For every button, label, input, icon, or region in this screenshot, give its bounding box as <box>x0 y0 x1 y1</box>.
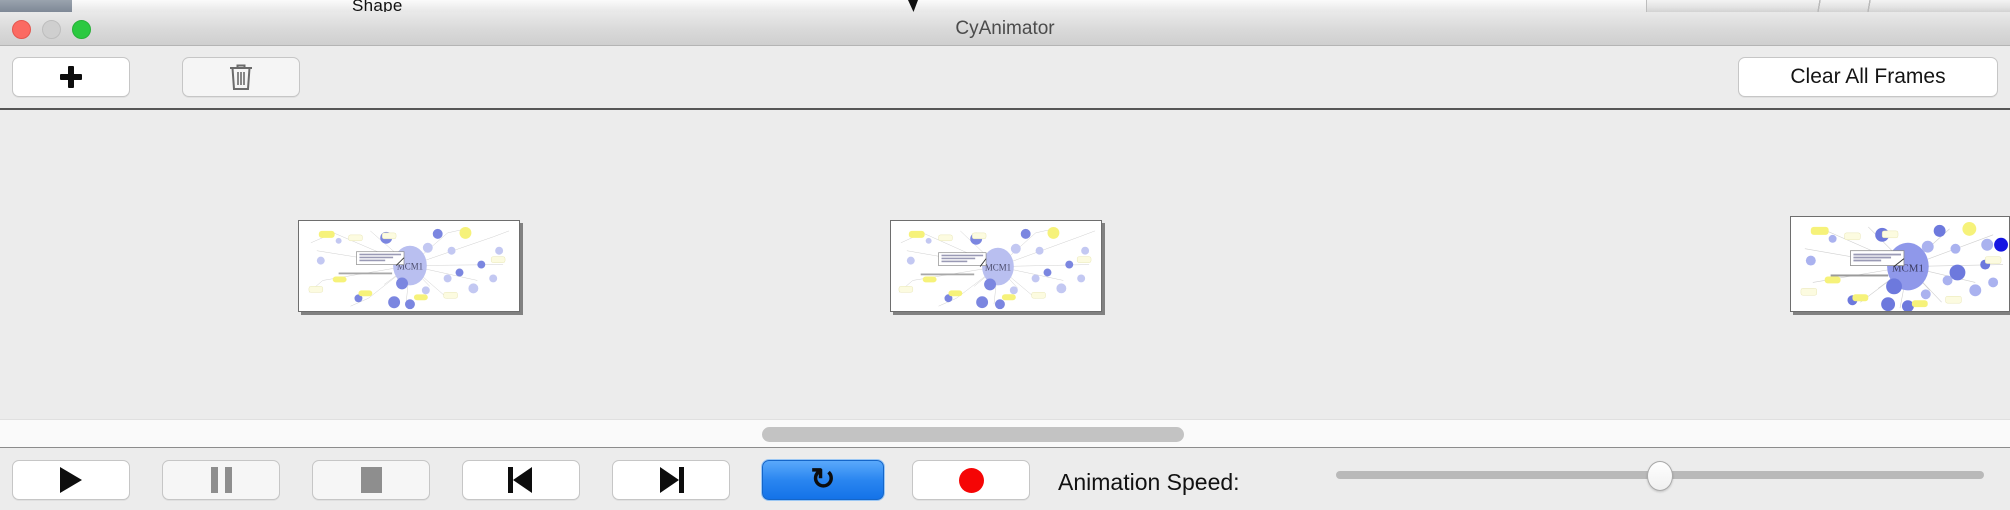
loop-icon: ↻ <box>810 465 835 495</box>
title-bar: CyAnimator <box>0 12 2010 46</box>
add-frame-button[interactable] <box>12 57 130 97</box>
loop-button[interactable]: ↻ <box>762 460 884 500</box>
stop-button[interactable] <box>312 460 430 500</box>
timeline-frame-2[interactable]: MCM1 <box>890 220 1102 312</box>
trash-icon <box>228 62 254 92</box>
network-thumbnail: MCM1 <box>299 221 519 312</box>
record-icon <box>959 468 984 493</box>
skip-to-end-icon <box>658 467 684 493</box>
window-title: CyAnimator <box>0 18 2010 40</box>
timeline-frame-1[interactable]: MCM1 <box>298 220 520 312</box>
playback-control-bar: ↻ Animation Speed: <box>0 449 2010 510</box>
clear-all-frames-label: Clear All Frames <box>1790 65 1945 89</box>
plus-icon <box>59 65 83 89</box>
timeline-frame-3[interactable]: MCM1 <box>1790 216 2010 312</box>
clear-all-frames-button[interactable]: Clear All Frames <box>1738 57 1998 97</box>
animation-speed-thumb[interactable] <box>1647 461 1673 491</box>
delete-frame-button[interactable] <box>182 57 300 97</box>
background-window-strip: Shape <box>0 0 2010 12</box>
skip-start-button[interactable] <box>462 460 580 500</box>
play-button[interactable] <box>12 460 130 500</box>
timeline-scrollbar[interactable] <box>0 419 2010 448</box>
cyanimator-window: Shape CyAnimator Clear All Frames <box>0 0 2010 510</box>
top-toolbar: Clear All Frames <box>0 46 2010 110</box>
pause-button[interactable] <box>162 460 280 500</box>
timeline-panel[interactable]: MCM1 <box>0 112 2010 402</box>
svg-text:MCM1: MCM1 <box>985 263 1011 273</box>
scrollbar-thumb[interactable] <box>762 427 1184 442</box>
pause-icon <box>211 467 232 493</box>
network-thumbnail: MCM1 <box>891 221 1101 312</box>
record-button[interactable] <box>912 460 1030 500</box>
skip-to-start-icon <box>508 467 534 493</box>
play-icon <box>60 467 82 493</box>
skip-end-button[interactable] <box>612 460 730 500</box>
animation-speed-label: Animation Speed: <box>1058 469 1240 496</box>
network-thumbnail: MCM1 <box>1791 217 2009 312</box>
stop-icon <box>361 467 382 493</box>
background-window-label: Shape <box>352 0 403 12</box>
animation-speed-slider[interactable] <box>1336 471 1984 479</box>
